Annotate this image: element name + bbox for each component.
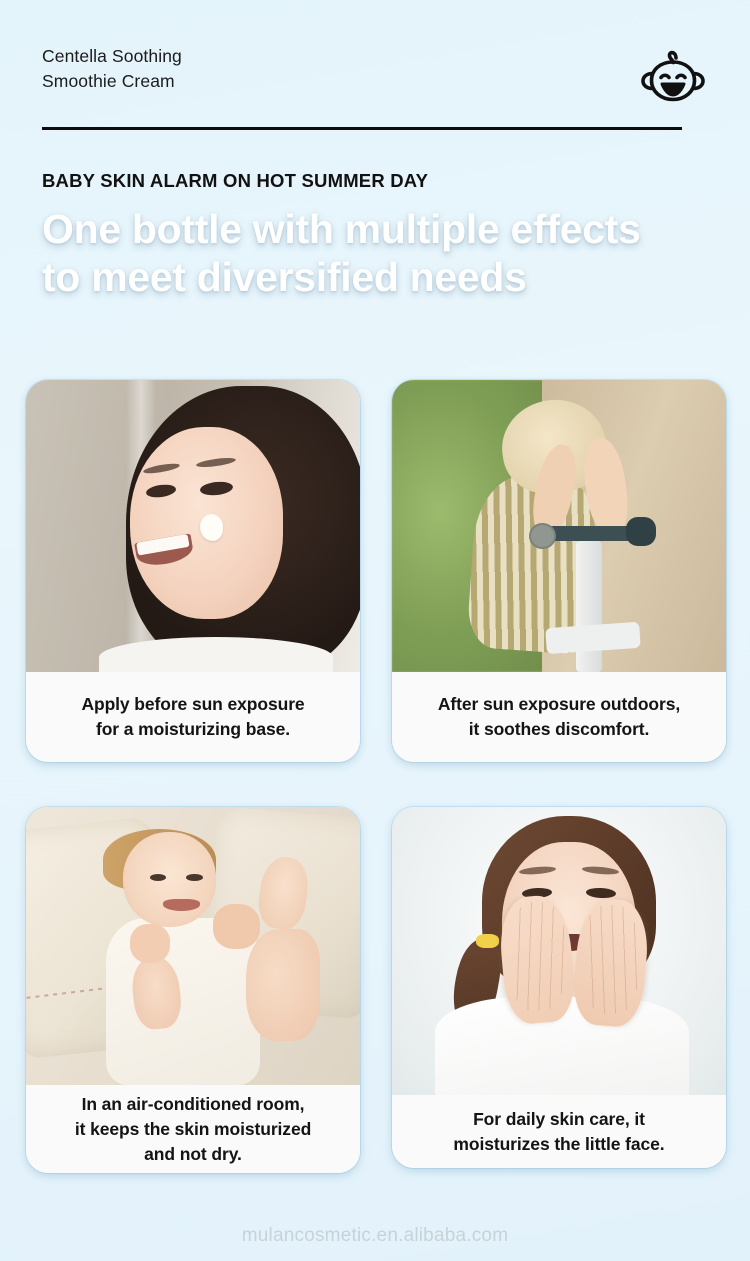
card-caption: For daily skin care, it moisturizes the … <box>392 1095 726 1168</box>
eyebrow-text: BABY SKIN ALARM ON HOT SUMMER DAY <box>42 170 428 192</box>
product-detail-page: Centella Soothing Smoothie Cream BABY SK… <box>0 0 750 1261</box>
page-header: Centella Soothing Smoothie Cream <box>42 44 708 116</box>
card-image-girl-hands-on-cheeks <box>392 807 726 1095</box>
card-image-child-on-scooter <box>392 380 726 672</box>
card-caption-text: After sun exposure outdoors, it soothes … <box>438 692 680 742</box>
card-caption: In an air-conditioned room, it keeps the… <box>26 1085 360 1173</box>
benefit-card[interactable]: Apply before sun exposure for a moisturi… <box>26 380 360 762</box>
card-image-smiling-girl-with-cream <box>26 380 360 672</box>
benefit-card[interactable]: For daily skin care, it moisturizes the … <box>392 807 726 1168</box>
benefit-card[interactable]: After sun exposure outdoors, it soothes … <box>392 380 726 762</box>
card-caption: Apply before sun exposure for a moisturi… <box>26 672 360 762</box>
benefit-card[interactable]: In an air-conditioned room, it keeps the… <box>26 807 360 1173</box>
card-caption-text: For daily skin care, it moisturizes the … <box>453 1107 664 1157</box>
baby-face-icon <box>636 46 708 114</box>
card-caption-text: In an air-conditioned room, it keeps the… <box>75 1092 311 1167</box>
card-caption: After sun exposure outdoors, it soothes … <box>392 672 726 762</box>
page-title: One bottle with multiple effects to meet… <box>42 205 662 301</box>
card-caption-text: Apply before sun exposure for a moisturi… <box>81 692 304 742</box>
brand-title: Centella Soothing Smoothie Cream <box>42 44 708 94</box>
header-divider <box>42 127 682 130</box>
card-image-baby-on-pillows <box>26 807 360 1085</box>
site-watermark: mulancosmetic.en.alibaba.com <box>0 1225 750 1247</box>
